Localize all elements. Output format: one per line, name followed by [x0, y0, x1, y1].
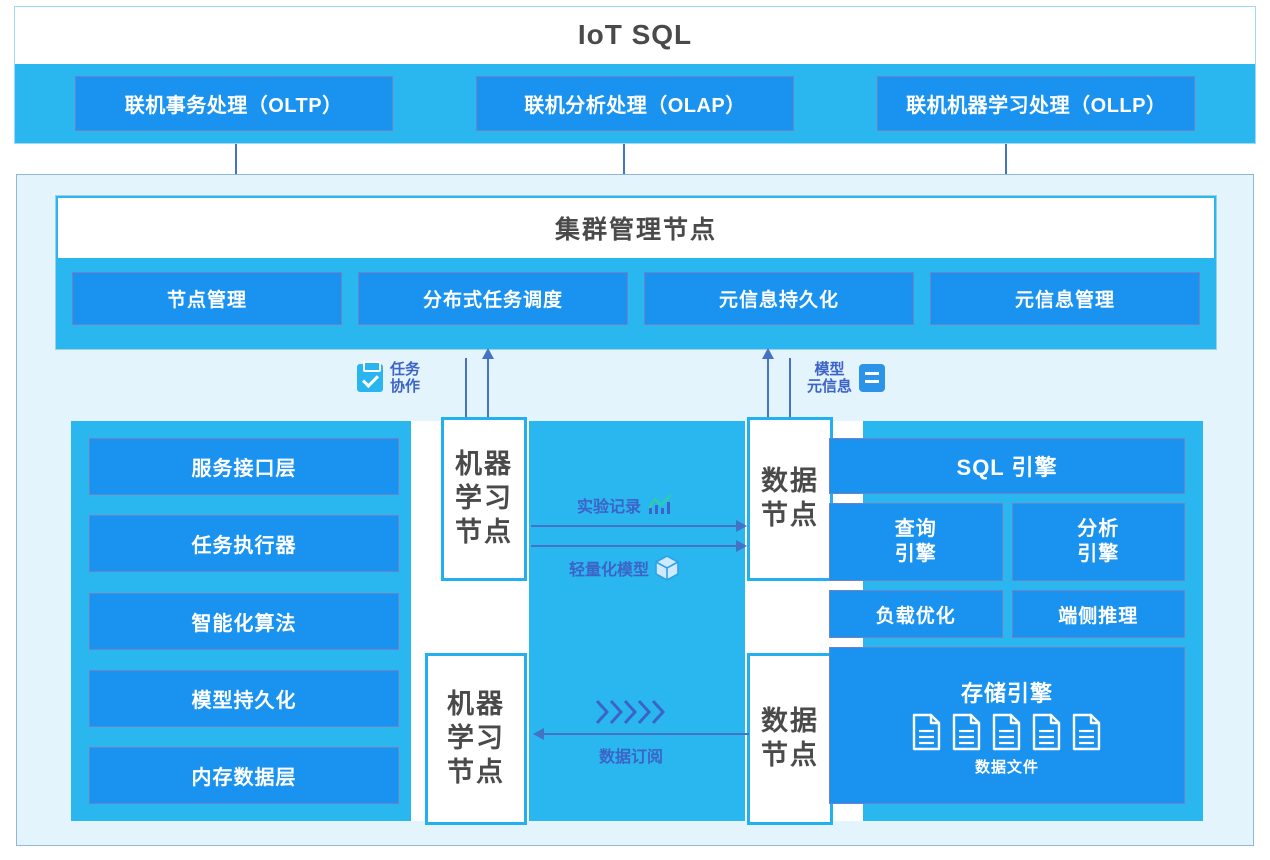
engine-analysis[interactable]: 分析 引擎	[1012, 503, 1186, 581]
flow-icon-stream	[595, 699, 671, 725]
data-file-icon	[950, 712, 984, 752]
feature-task-executor[interactable]: 任务执行器	[89, 515, 399, 572]
flow-label-experiment-records: 实验记录	[577, 493, 673, 517]
ml-feature-column: 服务接口层 任务执行器 智能化算法 模型持久化 内存数据层	[89, 438, 399, 804]
processing-mode-olap[interactable]: 联机分析处理（OLAP）	[476, 76, 794, 131]
ml-node-stack: 机器 学习 节点 机器 学习 节点	[411, 421, 529, 821]
data-file-icon	[990, 712, 1024, 752]
cluster-panel-title: 集群管理节点	[58, 198, 1214, 258]
engine-row-query-analysis: 查询 引擎 分析 引擎	[829, 503, 1185, 581]
arrow-cluster-to-ml-node	[465, 358, 467, 420]
engine-sql[interactable]: SQL 引擎	[829, 438, 1185, 494]
engine-storage[interactable]: 存储引擎	[829, 647, 1185, 804]
data-node-upper-line2: 节点	[761, 499, 819, 533]
processing-modes-band: 联机事务处理（OLTP） 联机分析处理（OLAP） 联机机器学习处理（OLLP）	[15, 64, 1255, 143]
engine-query[interactable]: 查询 引擎	[829, 503, 1003, 581]
engine-query-line2: 引擎	[895, 543, 937, 565]
engine-row-optimize-inference: 负载优化 端侧推理	[829, 590, 1185, 638]
feature-model-persistence[interactable]: 模型持久化	[89, 670, 399, 727]
data-node-upper-line1: 数据	[761, 465, 819, 499]
arrow-data-node-to-cluster	[767, 358, 769, 420]
cluster-management-panel: 集群管理节点 节点管理 分布式任务调度 元信息持久化 元信息管理	[55, 195, 1217, 350]
model-meta-line2: 元信息	[807, 378, 852, 395]
data-file-icon	[1030, 712, 1064, 752]
lightweight-model-text: 轻量化模型	[569, 556, 649, 580]
data-node-upper[interactable]: 数据 节点	[747, 417, 833, 581]
processing-mode-oltp[interactable]: 联机事务处理（OLTP）	[75, 76, 393, 131]
model-meta-line1: 模型	[815, 361, 845, 378]
ml-node-lower-line3: 节点	[447, 756, 505, 790]
data-file-icon-row	[910, 712, 1104, 752]
arrow-cluster-to-data-node	[789, 358, 791, 420]
arrow-experiment-records	[531, 525, 737, 527]
ml-node-lower-line2: 学习	[447, 722, 505, 756]
link-label-task-collaboration: 任务 协作	[357, 361, 420, 396]
task-collab-line2: 协作	[390, 378, 420, 395]
engine-analysis-line1: 分析	[1077, 518, 1119, 540]
processing-mode-ollp[interactable]: 联机机器学习处理（OLLP）	[877, 76, 1195, 131]
arrow-ml-node-to-cluster	[487, 358, 489, 420]
cluster-items-row: 节点管理 分布式任务调度 元信息持久化 元信息管理	[56, 258, 1216, 325]
experiment-records-text: 实验记录	[577, 493, 641, 517]
feature-service-interface-layer[interactable]: 服务接口层	[89, 438, 399, 495]
cluster-item-node-management[interactable]: 节点管理	[72, 272, 342, 325]
engine-load-optimization[interactable]: 负载优化	[829, 590, 1003, 638]
stream-icon	[595, 699, 671, 725]
arrow-lightweight-model	[531, 545, 737, 547]
data-file-icon	[910, 712, 944, 752]
cluster-item-task-scheduling[interactable]: 分布式任务调度	[358, 272, 628, 325]
page-title: IoT SQL	[15, 7, 1255, 63]
cluster-item-meta-persistence[interactable]: 元信息持久化	[644, 272, 914, 325]
platform-container: 集群管理节点 节点管理 分布式任务调度 元信息持久化 元信息管理 任务 协作 模…	[16, 174, 1254, 846]
document-list-icon	[859, 364, 885, 392]
data-file-icon	[1070, 712, 1104, 752]
data-node-lower-line1: 数据	[761, 705, 819, 739]
data-subscription-text: 数据订阅	[599, 743, 663, 767]
flow-label-lightweight-model: 轻量化模型	[569, 555, 679, 581]
cluster-item-meta-management[interactable]: 元信息管理	[930, 272, 1200, 325]
arrow-data-subscription	[543, 733, 749, 735]
clipboard-check-icon	[357, 364, 383, 392]
ml-node-upper-line1: 机器	[455, 448, 513, 482]
engine-analysis-line2: 引擎	[1077, 543, 1119, 565]
flow-label-data-subscription: 数据订阅	[599, 743, 663, 767]
ml-node-upper-line3: 节点	[455, 516, 513, 550]
ml-node-upper[interactable]: 机器 学习 节点	[441, 417, 527, 581]
cube-icon	[655, 555, 679, 581]
ml-node-lower-line1: 机器	[447, 688, 505, 722]
data-node-lower-line2: 节点	[761, 739, 819, 773]
engine-edge-inference[interactable]: 端侧推理	[1012, 590, 1186, 638]
storage-engine-caption: 数据文件	[975, 756, 1039, 777]
engine-query-line1: 查询	[895, 518, 937, 540]
link-label-model-metadata: 模型 元信息	[807, 361, 885, 396]
iot-sql-header-block: IoT SQL 联机事务处理（OLTP） 联机分析处理（OLAP） 联机机器学习…	[14, 6, 1256, 144]
line-chart-icon	[647, 494, 673, 516]
data-node-lower[interactable]: 数据 节点	[747, 653, 833, 825]
ml-node-lower[interactable]: 机器 学习 节点	[425, 653, 527, 825]
engine-panel: 服务接口层 任务执行器 智能化算法 模型持久化 内存数据层 机器 学习 节点 机…	[71, 421, 1203, 821]
feature-intelligent-algorithm[interactable]: 智能化算法	[89, 593, 399, 650]
feature-memory-data-layer[interactable]: 内存数据层	[89, 747, 399, 804]
data-engine-column: SQL 引擎 查询 引擎 分析 引擎 负载优化 端侧推理	[829, 438, 1185, 804]
task-collab-line1: 任务	[390, 361, 420, 378]
storage-engine-title: 存储引擎	[961, 676, 1053, 708]
ml-node-upper-line2: 学习	[455, 482, 513, 516]
